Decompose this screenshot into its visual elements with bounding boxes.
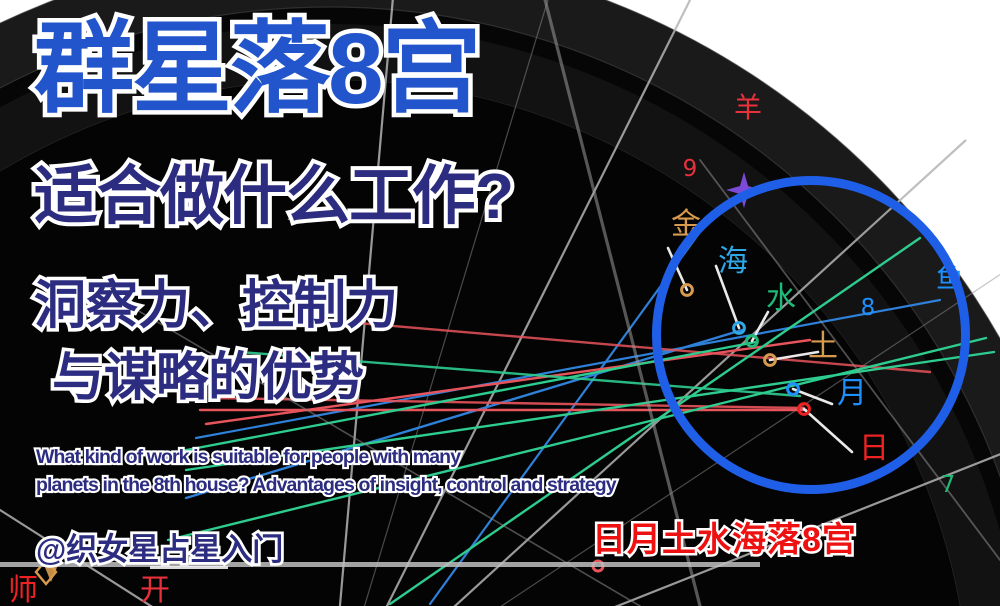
poster-canvas: 羊 鱼 9 8 7 金 海 水 土 月 日 师 开	[0, 0, 1000, 606]
english-subtitle-line-2: planets in the 8th house? Advantages of …	[36, 471, 616, 499]
english-subtitle: What kind of work is suitable for people…	[36, 443, 616, 500]
red-caption-8th-house: 日月土水海落8宫	[592, 512, 857, 561]
highlight-circle-8th-house	[652, 176, 970, 494]
subtitle-line-4: 与谋略的优势	[52, 352, 364, 404]
zodiac-label-aries: 羊	[734, 91, 762, 124]
chart-label-bottom-mid: 开	[140, 573, 170, 606]
author-handle[interactable]: @织女星占星入门	[36, 524, 283, 569]
chart-label-bottom-left: 师	[8, 573, 38, 606]
subtitle-line-3: 洞察力、控制力	[34, 280, 398, 332]
subtitle-question: 适合做什么工作?	[34, 164, 513, 228]
house-number-9: 9	[683, 156, 698, 182]
english-subtitle-line-1: What kind of work is suitable for people…	[36, 443, 616, 471]
page-title: 群星落8宫	[34, 18, 480, 120]
house-number-7: 7	[941, 472, 956, 498]
